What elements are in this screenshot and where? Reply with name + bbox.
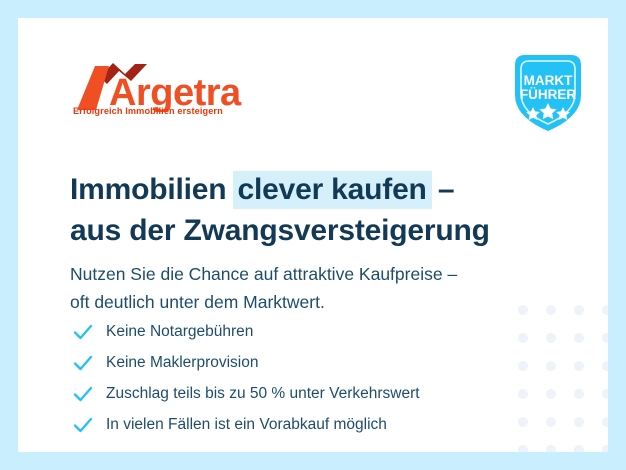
list-item: Zuschlag teils bis zu 50 % unter Verkehr… [72, 378, 420, 409]
decorative-dot [602, 389, 608, 399]
decorative-dot [546, 361, 556, 371]
list-item-label: Keine Notargebühren [106, 323, 253, 341]
decorative-dot [602, 333, 608, 343]
decorative-dot [546, 333, 556, 343]
check-icon [72, 414, 94, 436]
content-card: Argetra Erfolgreich Immobilien ersteiger… [18, 18, 608, 452]
decorative-dot [602, 445, 608, 452]
list-item-label: Zuschlag teils bis zu 50 % unter Verkehr… [106, 385, 420, 403]
headline-line-2: aus der Zwangsversteigerung [70, 212, 550, 249]
decorative-dot [574, 445, 584, 452]
decorative-dot [518, 417, 528, 427]
page-subheading: Nutzen Sie die Chance auf attraktive Kau… [70, 260, 570, 316]
list-item: In vielen Fällen ist ein Vorabkauf mögli… [72, 409, 420, 440]
page-headline: Immobilien clever kaufen – aus der Zwang… [70, 171, 550, 249]
headline-text-before: Immobilien [70, 173, 235, 206]
decorative-dot [546, 417, 556, 427]
list-item-label: Keine Maklerprovision [106, 354, 259, 372]
list-item-label: In vielen Fällen ist ein Vorabkauf mögli… [106, 416, 387, 434]
check-icon [72, 352, 94, 374]
dot-grid-decoration [518, 305, 608, 452]
subheading-line-2: oft deutlich unter dem Marktwert. [70, 288, 570, 316]
decorative-dot [574, 361, 584, 371]
decorative-dot [518, 445, 528, 452]
decorative-dot [574, 389, 584, 399]
decorative-dot [518, 389, 528, 399]
list-item: Keine Maklerprovision [72, 347, 420, 378]
decorative-dot [546, 445, 556, 452]
decorative-dot [574, 417, 584, 427]
headline-text-after: – [430, 173, 455, 206]
decorative-dot [518, 333, 528, 343]
decorative-dot [574, 305, 584, 315]
subheading-line-1: Nutzen Sie die Chance auf attraktive Kau… [70, 260, 570, 288]
decorative-dot [602, 361, 608, 371]
decorative-dot [518, 361, 528, 371]
benefits-list: Keine Notargebühren Keine Maklerprovisio… [72, 316, 420, 440]
badge-line1: MARKT [524, 73, 573, 88]
decorative-dot [602, 305, 608, 315]
decorative-dot [602, 417, 608, 427]
check-icon [72, 383, 94, 405]
decorative-dot [546, 389, 556, 399]
list-item: Keine Notargebühren [72, 316, 420, 347]
argetra-logo-mark-icon: Argetra [73, 60, 273, 112]
decorative-dot [574, 333, 584, 343]
outer-frame: Argetra Erfolgreich Immobilien ersteiger… [0, 0, 626, 470]
logo-tagline: Erfolgreich Immobilien ersteigern [73, 106, 223, 116]
market-leader-badge: MARKT FÜHRER [507, 51, 589, 135]
check-icon [72, 321, 94, 343]
badge-line2: FÜHRER [520, 87, 576, 102]
headline-highlight: clever kaufen [233, 171, 432, 209]
